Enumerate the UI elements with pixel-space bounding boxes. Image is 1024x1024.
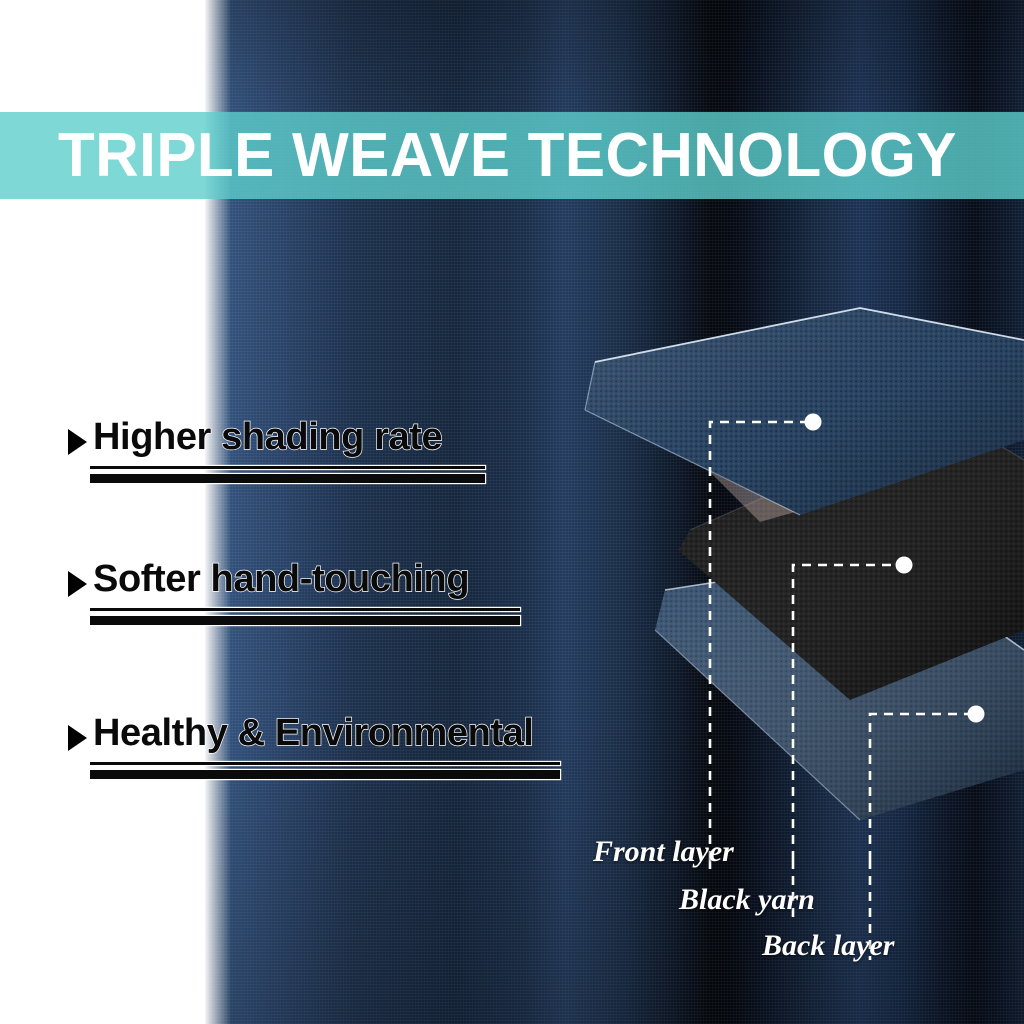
layer-label-front: Front layer — [593, 835, 734, 869]
underline-thin-rule — [90, 466, 485, 469]
feature-label: Healthy & Environmental — [93, 714, 534, 752]
feature-underline — [90, 466, 485, 483]
feature-item-healthy-environmental: Healthy & Environmental — [68, 714, 628, 779]
callout-dot-black-yarn — [896, 557, 913, 574]
underline-thick-rule — [90, 474, 485, 483]
underline-thin-rule — [90, 608, 520, 611]
feature-row: Higher shading rate — [68, 418, 628, 456]
feature-label: Softer hand-touching — [93, 560, 469, 598]
headline-banner: TRIPLE WEAVE TECHNOLOGY — [0, 112, 1024, 199]
feature-item-higher-shading-rate: Higher shading rate — [68, 418, 628, 483]
banner-title: TRIPLE WEAVE TECHNOLOGY — [58, 125, 957, 187]
layer-label-back: Back layer — [762, 929, 894, 963]
product-feature-image: TRIPLE WEAVE TECHNOLOGY Higher shading r… — [0, 0, 1024, 1024]
triangle-right-icon — [68, 571, 87, 597]
underline-thick-rule — [90, 616, 520, 625]
underline-thin-rule — [90, 762, 560, 765]
feature-item-softer-hand-touching: Softer hand-touching — [68, 560, 628, 625]
callout-dot-back-layer — [968, 706, 985, 723]
layer-label-black-yarn: Black yarn — [679, 883, 815, 917]
feature-label: Higher shading rate — [93, 418, 442, 456]
triangle-right-icon — [68, 725, 87, 751]
callout-dot-front-layer — [805, 414, 822, 431]
triple-weave-layer-diagram — [560, 300, 1024, 860]
feature-row: Softer hand-touching — [68, 560, 628, 598]
feature-row: Healthy & Environmental — [68, 714, 628, 752]
feature-underline — [90, 608, 520, 625]
underline-thick-rule — [90, 770, 560, 779]
triangle-right-icon — [68, 429, 87, 455]
feature-underline — [90, 762, 560, 779]
